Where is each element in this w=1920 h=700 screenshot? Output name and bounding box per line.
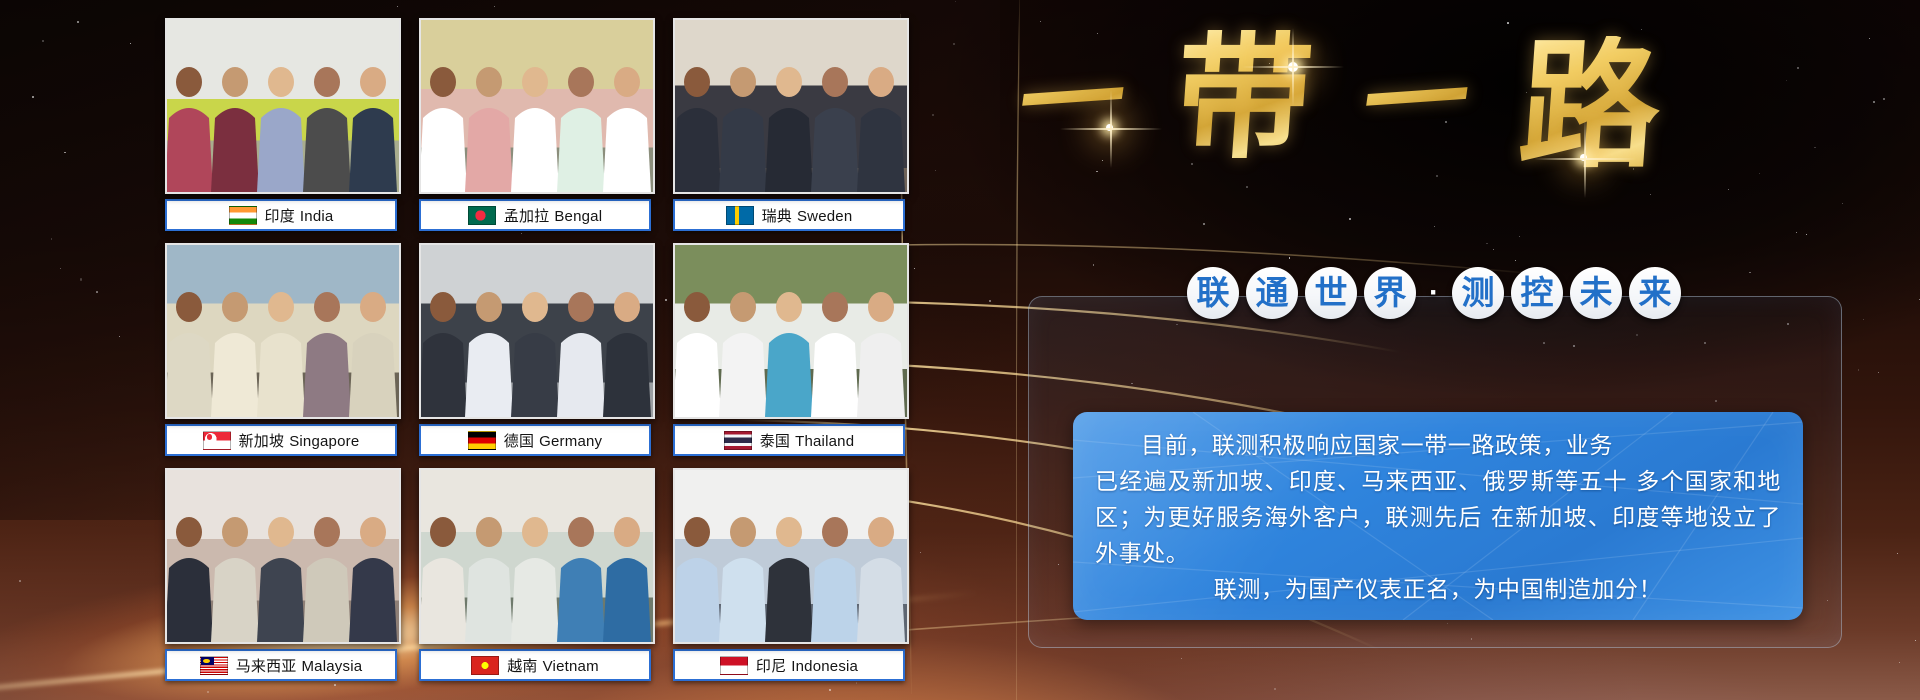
country-photo [673,18,909,194]
country-photo [165,468,401,644]
calligraphy-char-4: 路 [1515,36,1665,176]
slogan-char-4: 界 [1364,267,1416,319]
country-label: 新加坡 Singapore [165,424,397,456]
flag-india-icon [229,206,257,225]
about-text-box: 目前，联测积极响应国家一带一路政策，业务 已经遍及新加坡、印度、马来西亚、俄罗斯… [1073,412,1803,620]
country-label-text: 瑞典 Sweden [762,205,853,226]
flag-indonesia-icon [720,656,748,675]
slogan-char-1: 联 [1187,267,1239,319]
country-label-text: 新加坡 Singapore [239,430,360,451]
country-label-text: 越南 Vietnam [507,655,599,676]
sparkle-icon [1106,124,1113,131]
country-photo [419,468,655,644]
country-label: 泰国 Thailand [673,424,905,456]
flag-vietnam-icon [471,656,499,675]
country-card-malaysia[interactable]: 马来西亚 Malaysia [165,468,397,681]
calligraphy-char-1: 一 [1012,45,1132,156]
country-photo [165,243,401,419]
calligraphy-char-2: 带 [1171,30,1317,166]
country-label: 孟加拉 Bengal [419,199,651,231]
country-card-vietnam[interactable]: 越南 Vietnam [419,468,651,681]
sparkle-icon [1288,62,1298,72]
flag-bangladesh-icon [468,206,496,225]
about-line-1: 目前，联测积极响应国家一带一路政策，业务 [1095,428,1781,464]
gallery-row: 马来西亚 Malaysia越南 Vietnam印尼 Indonesia [165,468,905,681]
slogan-separator-dot: · [1423,276,1445,310]
slogan-char-9: 来 [1629,267,1681,319]
gallery-row: 新加坡 Singapore德国 Germany泰国 Thailand [165,243,905,456]
about-line-5: 联测，为国产仪表正名，为中国制造加分！ [1095,572,1781,608]
country-label: 越南 Vietnam [419,649,651,681]
slogan-char-6: 测 [1452,267,1504,319]
flag-malaysia-icon [200,656,228,675]
country-card-indonesia[interactable]: 印尼 Indonesia [673,468,905,681]
slogan-char-2: 通 [1246,267,1298,319]
country-card-germany[interactable]: 德国 Germany [419,243,651,456]
country-card-bengal[interactable]: 孟加拉 Bengal [419,18,651,231]
country-label: 印度 India [165,199,397,231]
country-label: 印尼 Indonesia [673,649,905,681]
gallery-row: 印度 India孟加拉 Bengal瑞典 Sweden [165,18,905,231]
slogan-char-7: 控 [1511,267,1563,319]
country-label: 瑞典 Sweden [673,199,905,231]
company-slogan: 联通世界·测控未来 [1028,255,1840,331]
country-card-india[interactable]: 印度 India [165,18,397,231]
country-photo [673,468,909,644]
flag-germany-icon [468,431,496,450]
country-photo [419,18,655,194]
country-card-singapore[interactable]: 新加坡 Singapore [165,243,397,456]
banner-stage: 印度 India孟加拉 Bengal瑞典 Sweden新加坡 Singapore… [0,0,1920,700]
country-photo [673,243,909,419]
about-paragraph: 目前，联测积极响应国家一带一路政策，业务 已经遍及新加坡、印度、马来西亚、俄罗斯… [1073,412,1803,608]
country-label-text: 印尼 Indonesia [756,655,858,676]
country-label-text: 泰国 Thailand [760,430,855,451]
sparkle-icon [1580,154,1587,161]
country-label-text: 孟加拉 Bengal [504,205,603,226]
country-label-text: 印度 India [265,205,334,226]
flag-singapore-icon [203,431,231,450]
country-label: 德国 Germany [419,424,651,456]
country-photo [165,18,401,194]
country-label-text: 马来西亚 Malaysia [236,655,363,676]
slogan-char-8: 未 [1570,267,1622,319]
calligraphy-char-3: 一 [1356,45,1476,156]
country-card-sweden[interactable]: 瑞典 Sweden [673,18,905,231]
country-photo-gallery: 印度 India孟加拉 Bengal瑞典 Sweden新加坡 Singapore… [165,18,905,693]
about-line-2: 已经遍及新加坡、印度、马来西亚、俄罗斯等五十 [1095,469,1628,495]
flag-sweden-icon [726,206,754,225]
country-card-thailand[interactable]: 泰国 Thailand [673,243,905,456]
country-label-text: 德国 Germany [504,430,602,451]
flag-thailand-icon [724,431,752,450]
country-label: 马来西亚 Malaysia [165,649,397,681]
country-photo [419,243,655,419]
calligraphy-title: 一 带 一 路 [1020,6,1660,196]
slogan-char-3: 世 [1305,267,1357,319]
